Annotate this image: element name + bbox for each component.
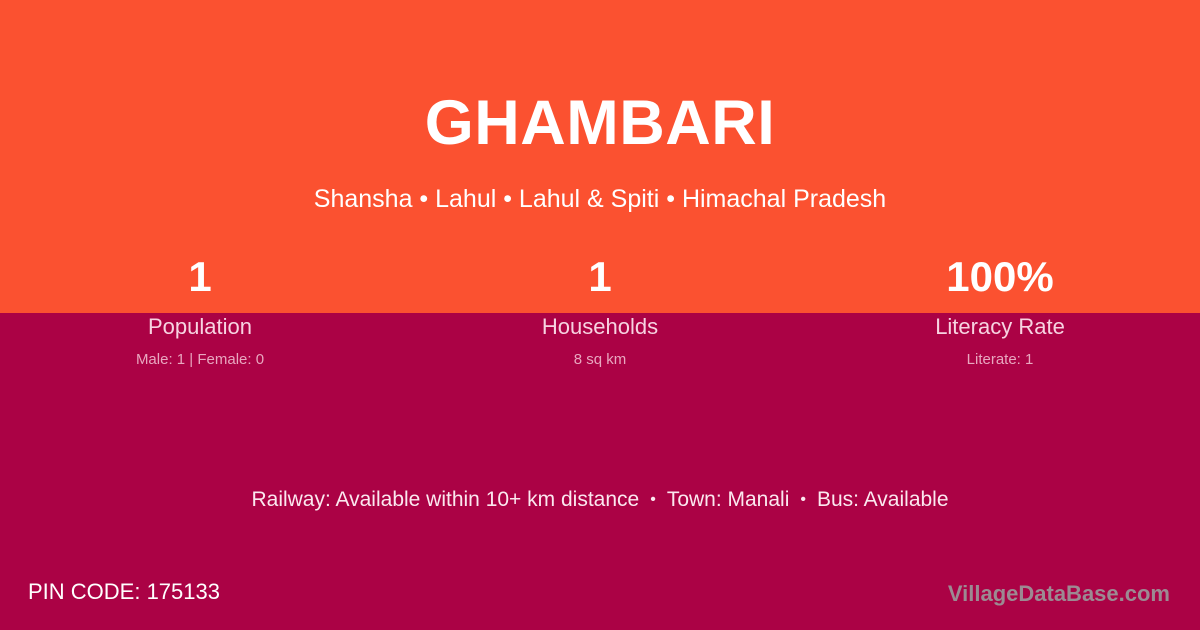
stat-literacy-label: Literacy Rate	[800, 314, 1200, 340]
stat-households-value: 1	[400, 250, 800, 303]
stat-households-label: Households	[400, 314, 800, 340]
stat-population-sublabel: Male: 1 | Female: 0	[0, 351, 400, 369]
stat-households: 1 Households 8 sq km	[400, 250, 800, 369]
stat-literacy: 100% Literacy Rate Literate: 1	[800, 250, 1200, 369]
amenity-bus: Bus: Available	[817, 488, 949, 511]
stats-row: 1 Population Male: 1 | Female: 0 1 House…	[0, 250, 1200, 369]
stat-population: 1 Population Male: 1 | Female: 0	[0, 250, 400, 369]
village-info-card: GHAMBARI Shansha • Lahul • Lahul & Spiti…	[0, 0, 1200, 630]
stat-households-sublabel: 8 sq km	[400, 351, 800, 369]
stat-literacy-sublabel: Literate: 1	[800, 351, 1200, 369]
stat-population-value: 1	[0, 250, 400, 303]
amenity-railway: Railway: Available within 10+ km distanc…	[251, 488, 639, 511]
amenity-separator-icon: •	[789, 486, 817, 514]
amenity-separator-icon: •	[639, 486, 667, 514]
amenities-line: Railway: Available within 10+ km distanc…	[0, 486, 1200, 514]
pin-code: PIN CODE: 175133	[28, 578, 220, 606]
stat-population-label: Population	[0, 314, 400, 340]
amenity-town: Town: Manali	[667, 488, 790, 511]
stat-literacy-value: 100%	[800, 250, 1200, 303]
site-brand: VillageDataBase.com	[948, 580, 1170, 608]
breadcrumb: Shansha • Lahul • Lahul & Spiti • Himach…	[0, 183, 1200, 215]
page-title: GHAMBARI	[0, 86, 1200, 160]
